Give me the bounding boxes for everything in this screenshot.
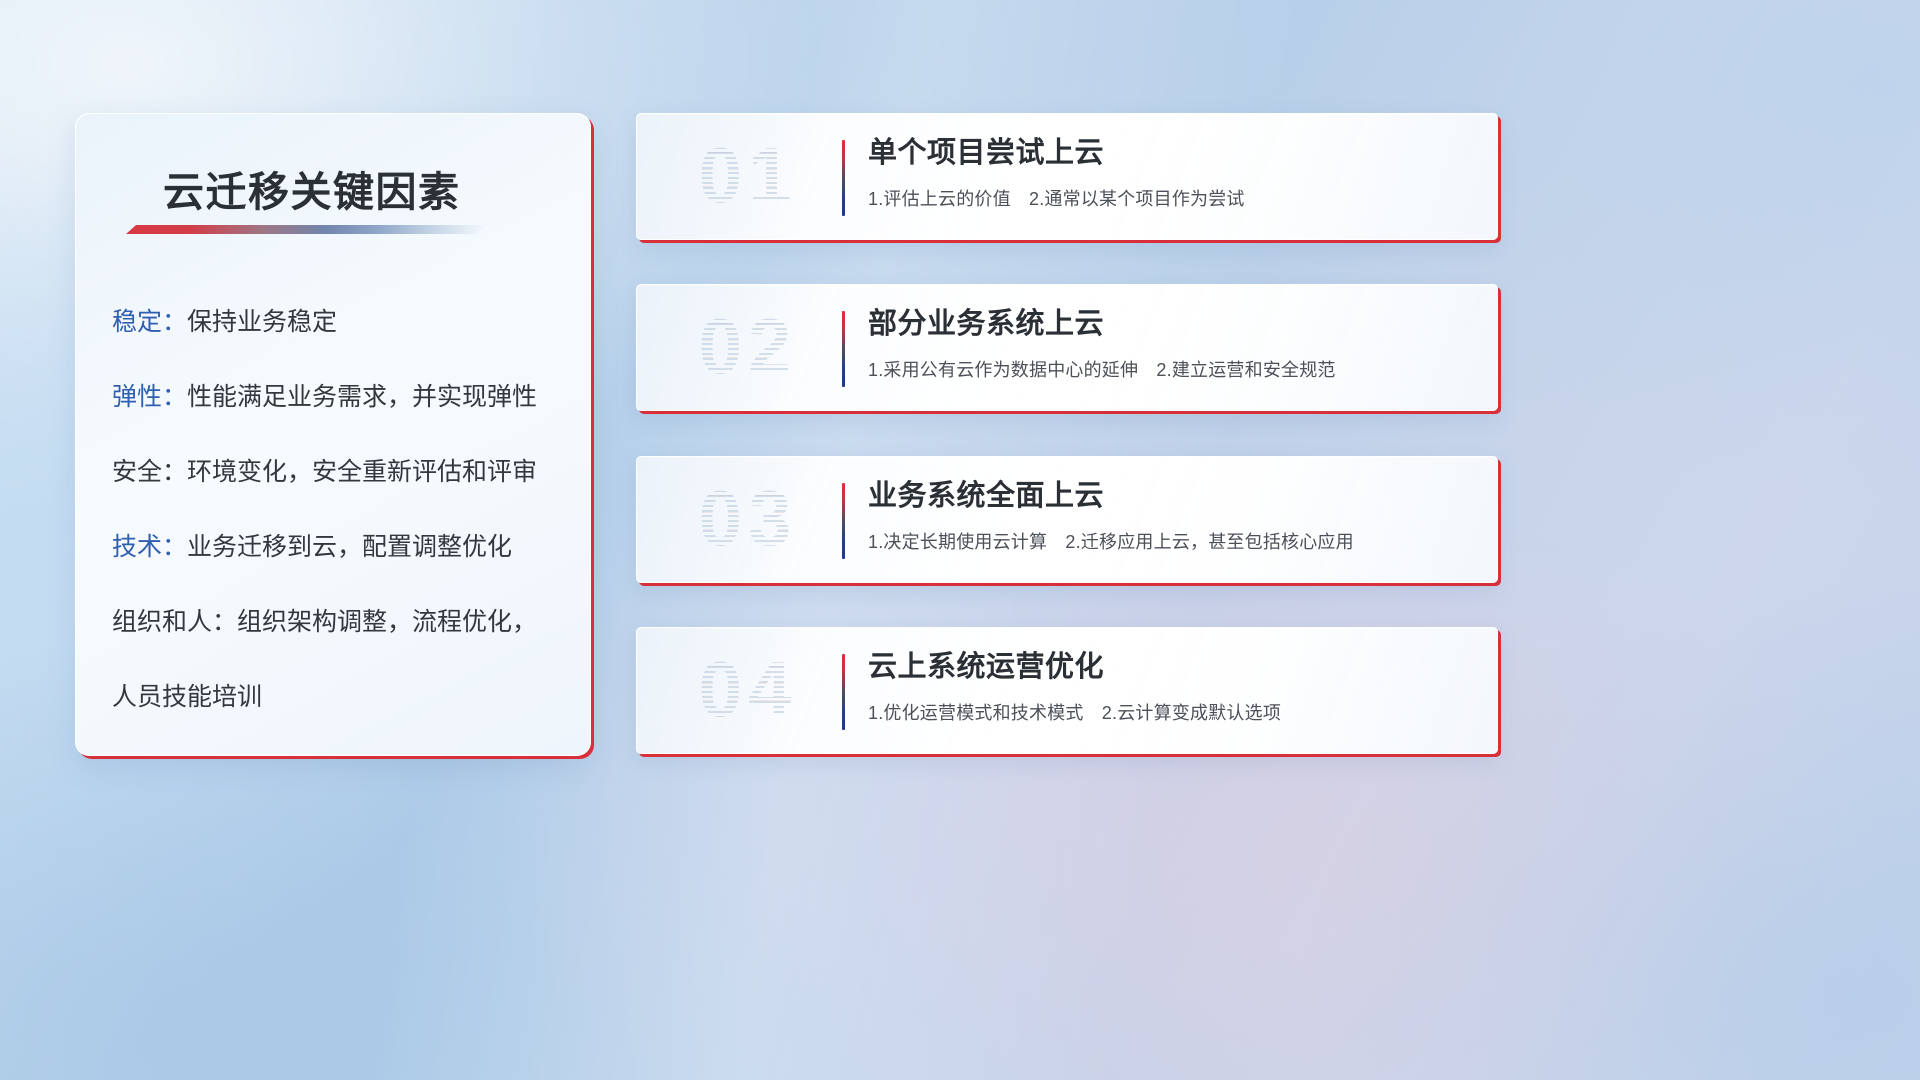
slide-stage: 云迁移关键因素 稳定： 保持业务稳定 弹性： 性能满足业务需求，并实现弹性 安全…	[0, 0, 1920, 1080]
factor-text: 保持业务稳定	[187, 310, 337, 335]
list-item: 安全： 环境变化，安全重新评估和评审	[112, 460, 566, 485]
step-title: 单个项目尝试上云	[868, 138, 1481, 170]
step-card-04[interactable]: 04 04 云上系统运营优化 1.优化运营模式和技术模式 2.云计算变成默认选项	[636, 627, 1498, 754]
step-card-01[interactable]: 01 01 单个项目尝试上云 1.评估上云的价值 2.通常以某个项目作为尝试	[636, 113, 1498, 240]
panel-title: 云迁移关键因素	[163, 158, 461, 218]
list-item: 弹性： 性能满足业务需求，并实现弹性	[112, 385, 566, 410]
step-divider-bar	[842, 483, 845, 559]
step-subtitle: 1.优化运营模式和技术模式 2.云计算变成默认选项	[868, 699, 1481, 725]
step-title: 业务系统全面上云	[868, 481, 1481, 513]
factor-text: 组织架构调整，流程优化，	[237, 610, 537, 635]
step-body: 部分业务系统上云 1.采用公有云作为数据中心的延伸 2.建立运营和安全规范	[868, 309, 1481, 382]
list-item: 稳定： 保持业务稳定	[112, 310, 566, 335]
factor-label: 组织和人：	[112, 610, 237, 635]
step-divider-bar	[842, 140, 845, 216]
factor-text: 性能满足业务需求，并实现弹性	[187, 385, 537, 410]
factor-label: 技术：	[112, 535, 187, 560]
factor-label: 稳定：	[112, 310, 187, 335]
step-body: 业务系统全面上云 1.决定长期使用云计算 2.迁移应用上云，甚至包括核心应用	[868, 481, 1481, 554]
step-body: 云上系统运营优化 1.优化运营模式和技术模式 2.云计算变成默认选项	[868, 652, 1481, 725]
title-underline-rule	[126, 225, 486, 234]
step-subtitle: 1.采用公有云作为数据中心的延伸 2.建立运营和安全规范	[868, 356, 1481, 382]
list-item: 人员技能培训	[112, 685, 566, 710]
factor-label: 安全：	[112, 460, 187, 485]
step-card-02[interactable]: 02 02 部分业务系统上云 1.采用公有云作为数据中心的延伸 2.建立运营和安…	[636, 284, 1498, 411]
step-subtitle: 1.决定长期使用云计算 2.迁移应用上云，甚至包括核心应用	[868, 528, 1481, 554]
step-number: 03	[663, 456, 833, 581]
list-item: 组织和人： 组织架构调整，流程优化，	[112, 610, 566, 635]
step-card-03[interactable]: 03 03 业务系统全面上云 1.决定长期使用云计算 2.迁移应用上云，甚至包括…	[636, 456, 1498, 583]
step-divider-bar	[842, 654, 845, 730]
step-divider-bar	[842, 311, 845, 387]
step-number: 01	[663, 113, 833, 238]
factor-label: 弹性：	[112, 385, 187, 410]
step-title: 部分业务系统上云	[868, 309, 1481, 341]
step-subtitle: 1.评估上云的价值 2.通常以某个项目作为尝试	[868, 185, 1481, 211]
step-body: 单个项目尝试上云 1.评估上云的价值 2.通常以某个项目作为尝试	[868, 138, 1481, 211]
step-number: 02	[663, 284, 833, 409]
list-item: 技术： 业务迁移到云，配置调整优化	[112, 535, 566, 560]
step-title: 云上系统运营优化	[868, 652, 1481, 684]
key-factors-panel: 云迁移关键因素 稳定： 保持业务稳定 弹性： 性能满足业务需求，并实现弹性 安全…	[75, 113, 591, 756]
factor-text: 环境变化，安全重新评估和评审	[187, 460, 537, 485]
factor-text: 人员技能培训	[112, 685, 262, 710]
step-number: 04	[663, 627, 833, 752]
factor-text: 业务迁移到云，配置调整优化	[187, 535, 512, 560]
key-factors-list: 稳定： 保持业务稳定 弹性： 性能满足业务需求，并实现弹性 安全： 环境变化，安…	[112, 310, 566, 710]
